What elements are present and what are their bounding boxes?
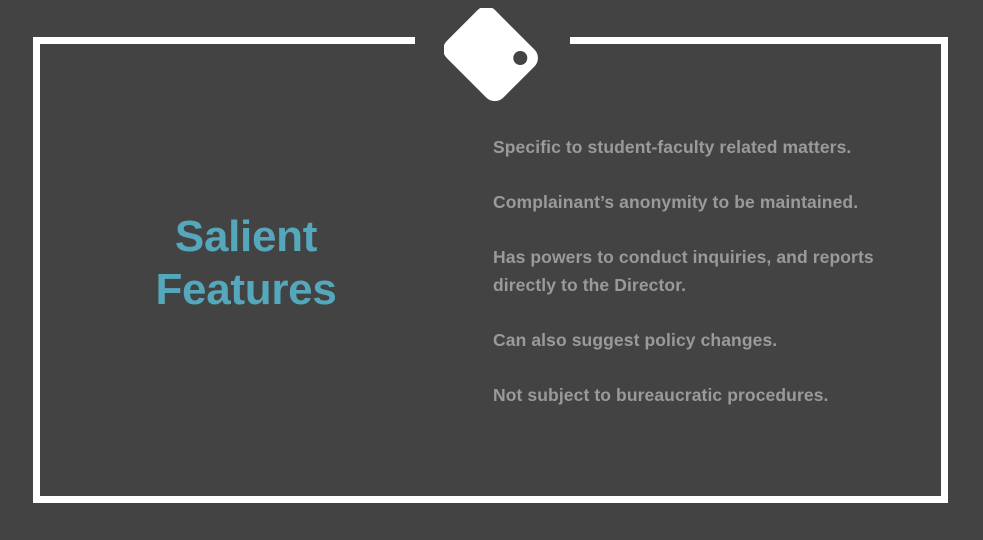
- list-item: Not subject to bureaucratic procedures.: [493, 381, 923, 409]
- frame-border-left: [33, 37, 40, 503]
- frame-border-top-left: [33, 37, 415, 44]
- page-title-line-2: Features: [155, 265, 336, 314]
- slide: Salient Features Specific to student-fac…: [0, 0, 983, 540]
- page-title: Salient Features: [60, 210, 432, 316]
- heading-column: Salient Features: [60, 210, 432, 316]
- list-item: Can also suggest policy changes.: [493, 326, 923, 354]
- list-item: Complainant’s anonymity to be maintained…: [493, 188, 923, 216]
- list-item: Has powers to conduct inquiries, and rep…: [493, 243, 923, 299]
- bullet-list: Specific to student-faculty related matt…: [493, 133, 923, 409]
- frame-border-top-right: [570, 37, 948, 44]
- list-item: Specific to student-faculty related matt…: [493, 133, 923, 161]
- frame-border-right: [941, 37, 948, 503]
- frame-border-bottom: [33, 496, 948, 503]
- tag-icon: [444, 8, 540, 108]
- page-title-line-1: Salient: [175, 212, 317, 261]
